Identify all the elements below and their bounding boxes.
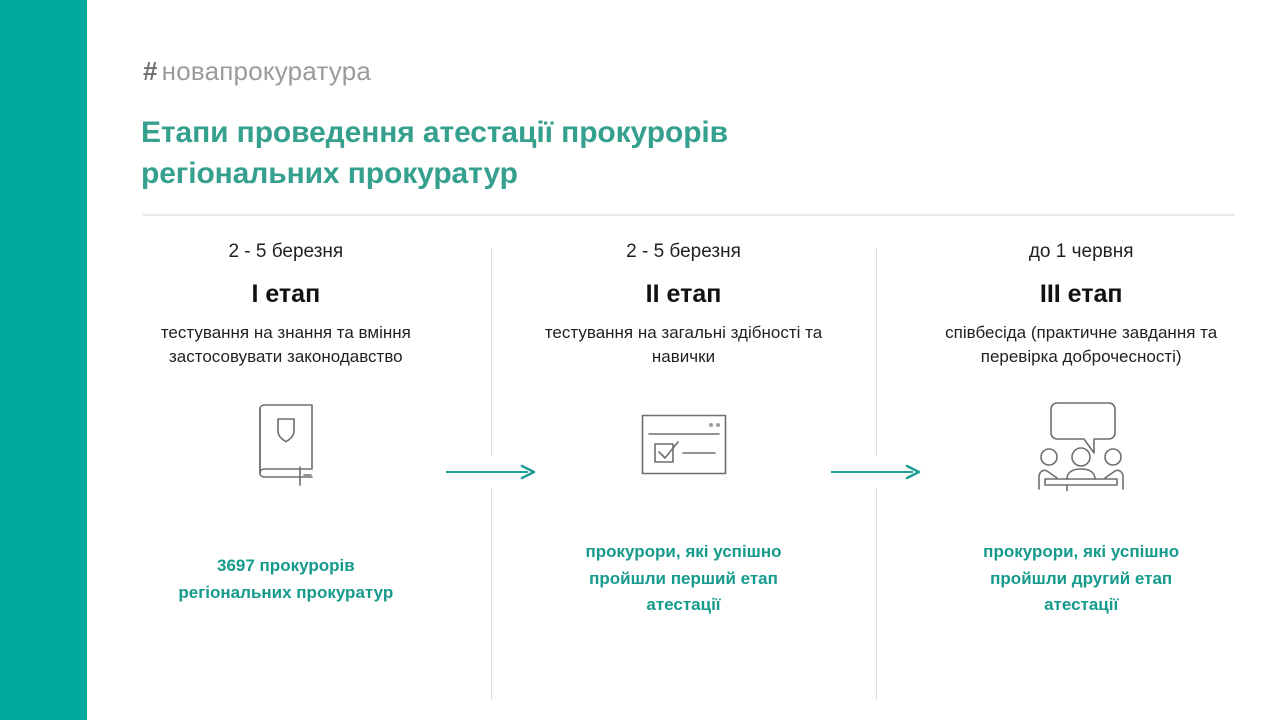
left-accent-bar bbox=[0, 0, 87, 720]
stage-1-date: 2 - 5 березня bbox=[228, 241, 343, 263]
hash-icon: # bbox=[143, 56, 158, 86]
stage-2-title: II етап bbox=[646, 280, 722, 309]
brand-hashtag-text: новапрокуратура bbox=[162, 56, 371, 86]
stage-column-2: 2 - 5 березня II етап тестування на зага… bbox=[485, 232, 883, 702]
slide-canvas: #новапрокуратура Етапи проведення атеста… bbox=[0, 0, 1280, 720]
stage-1-title: I етап bbox=[251, 280, 320, 309]
online-test-window-icon bbox=[641, 397, 727, 493]
title-divider bbox=[143, 214, 1235, 216]
brand-hashtag: #новапрокуратура bbox=[143, 56, 371, 87]
stages-row: 2 - 5 березня I етап тестування на знанн… bbox=[87, 232, 1280, 702]
stage-2-description: тестування на загальні здібності та нави… bbox=[534, 321, 834, 369]
stage-1-description: тестування на знання та вміння застосову… bbox=[136, 321, 436, 369]
interview-panel-icon bbox=[1037, 397, 1125, 493]
stage-2-note: прокурори, які успішно пройшли перший ет… bbox=[574, 539, 794, 618]
stage-3-title: III етап bbox=[1040, 280, 1123, 309]
stage-2-date: 2 - 5 березня bbox=[626, 241, 741, 263]
stage-column-3: до 1 червня III етап співбесіда (практич… bbox=[882, 232, 1280, 702]
stage-column-1: 2 - 5 березня I етап тестування на знанн… bbox=[87, 232, 485, 702]
stage-1-note: 3697 прокурорів регіональних прокуратур bbox=[176, 553, 396, 606]
stage-3-note: прокурори, які успішно пройшли другий ет… bbox=[971, 539, 1191, 618]
page-title: Етапи проведення атестації прокурорів ре… bbox=[141, 112, 921, 195]
stage-3-date: до 1 червня bbox=[1029, 241, 1134, 263]
law-book-icon bbox=[254, 397, 318, 493]
stage-3-description: співбесіда (практичне завдання та переві… bbox=[931, 321, 1231, 369]
